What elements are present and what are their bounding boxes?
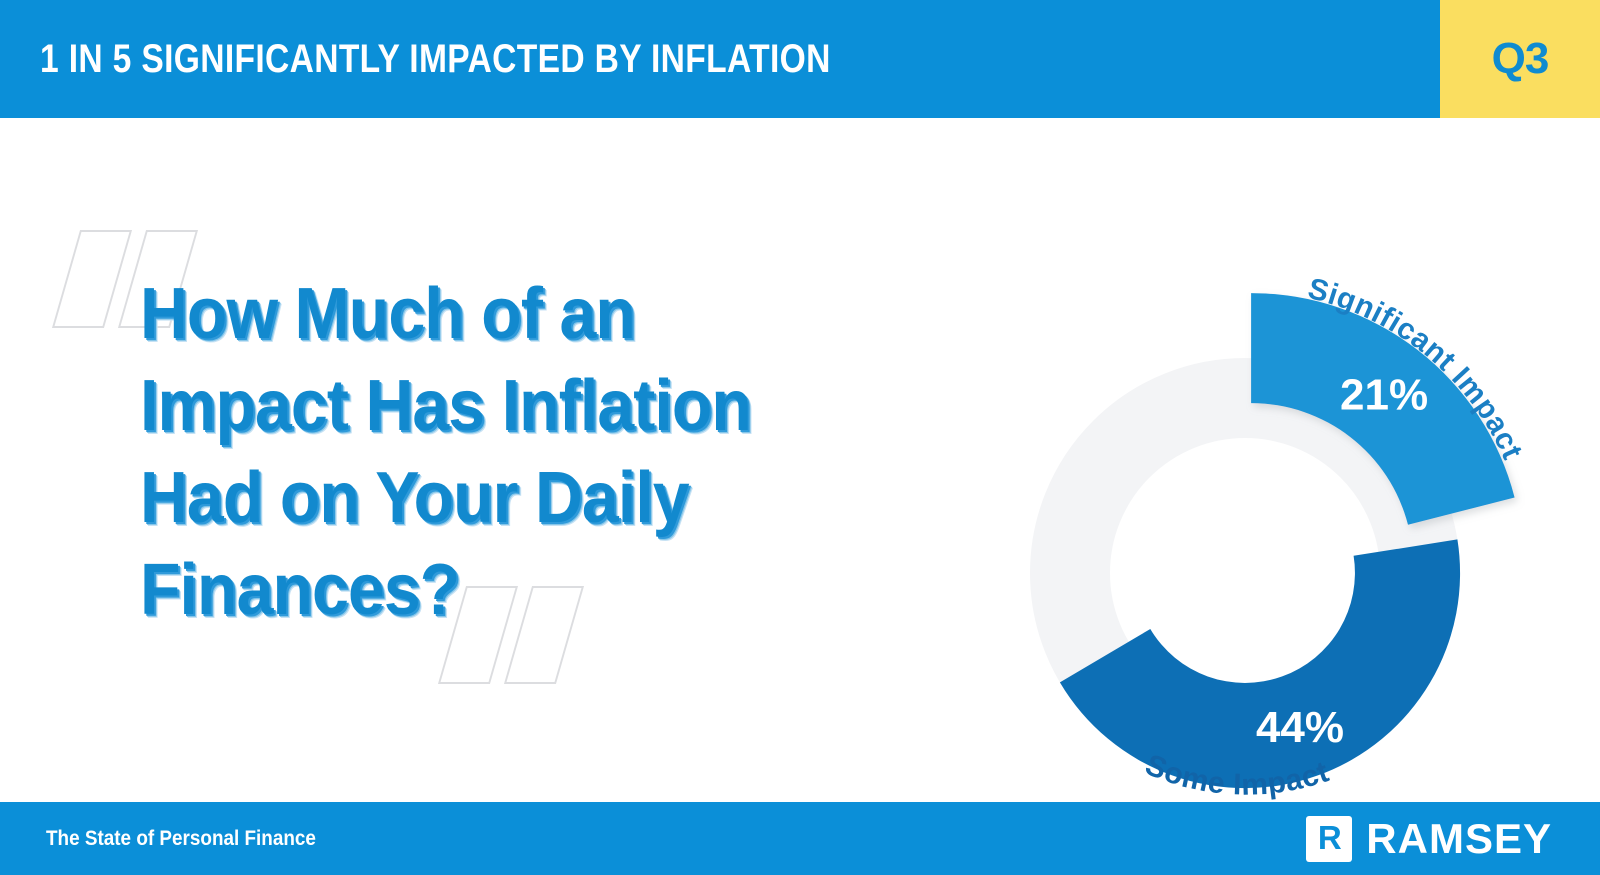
ramsey-logo-wordmark: RAMSEY (1366, 815, 1552, 863)
page-headline: How Much of an Impact Has Inflation Had … (140, 268, 931, 636)
ramsey-logo-letter: R (1318, 821, 1341, 854)
quarter-badge: Q3 (1440, 0, 1600, 118)
slice-value-significant-impact: 21% (1340, 371, 1428, 420)
donut-chart-svg: 21% 44% Significant Impact Some Impact (965, 138, 1565, 758)
headline-line-3: Had on Your Daily (140, 452, 931, 544)
ramsey-logo-mark-icon: R (1306, 816, 1352, 862)
headline-line-4: Finances? (140, 544, 931, 636)
page-footer: The State of Personal Finance R RAMSEY (0, 802, 1600, 875)
headline-line-1: How Much of an (140, 268, 931, 360)
headline-line-2: Impact Has Inflation (140, 360, 931, 452)
donut-chart: 21% 44% Significant Impact Some Impact (965, 138, 1565, 758)
footer-report-title: The State of Personal Finance (46, 802, 316, 875)
quarter-badge-label: Q3 (1492, 34, 1549, 84)
ramsey-logo[interactable]: R RAMSEY (1306, 802, 1552, 875)
header-title: 1 IN 5 SIGNIFICANTLY IMPACTED BY INFLATI… (40, 0, 831, 118)
main-content: How Much of an Impact Has Inflation Had … (0, 118, 1600, 802)
quote-bar (52, 230, 132, 328)
page-header: 1 IN 5 SIGNIFICANTLY IMPACTED BY INFLATI… (0, 0, 1600, 118)
slice-value-some-impact: 44% (1256, 703, 1344, 752)
